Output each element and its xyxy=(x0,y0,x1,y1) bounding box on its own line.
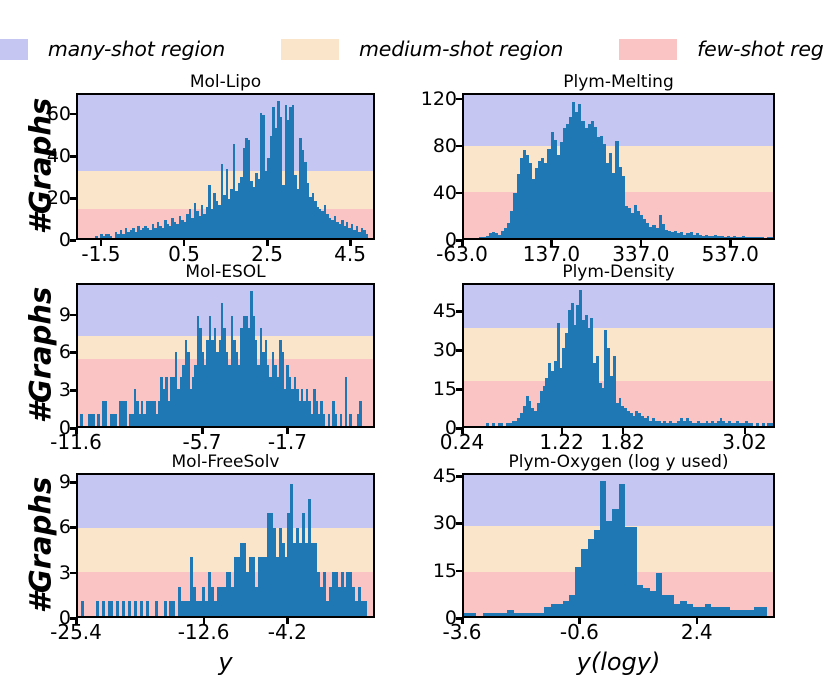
y-axis-label: #Graphs xyxy=(23,92,57,239)
histogram-bar xyxy=(80,414,82,426)
histogram-bar xyxy=(345,377,347,426)
x-tick-mark xyxy=(75,428,78,434)
histogram-bar xyxy=(172,601,175,616)
y-tick-mark xyxy=(456,349,462,352)
histogram-bar xyxy=(761,607,767,616)
x-tick-mark xyxy=(696,618,699,624)
x-tick-mark xyxy=(561,428,564,434)
subplot-plym-melting: Plym-Melting04080120-63.0137.0337.0537.0 xyxy=(462,93,775,240)
subplot-plym-density: Plym-Density01530450.241.221.823.02 xyxy=(462,283,775,428)
histogram-bar xyxy=(128,601,131,616)
x-tick-mark xyxy=(640,240,643,246)
histogram-bar xyxy=(470,613,476,616)
histogram-bar xyxy=(81,601,84,616)
histogram-bars-plym-melting xyxy=(464,95,773,238)
x-tick-mark xyxy=(349,240,352,246)
x-tick-mark xyxy=(744,428,747,434)
legend-label: few-shot region xyxy=(697,37,824,61)
histogram-bar xyxy=(164,601,167,616)
medium-shot-swatch xyxy=(281,39,339,60)
x-tick-mark xyxy=(75,618,78,624)
histogram-bar xyxy=(770,237,773,238)
y-tick-mark xyxy=(456,310,462,313)
y-tick-mark xyxy=(70,572,76,575)
histogram-bar xyxy=(756,423,759,426)
subplot-title-mol-esol: Mol-ESOL xyxy=(76,262,375,282)
histogram-bar xyxy=(328,414,330,426)
histogram-bar xyxy=(110,601,113,616)
histogram-bars-mol-freesolv xyxy=(78,475,373,616)
histogram-bar xyxy=(364,601,367,616)
x-tick-mark xyxy=(286,618,289,624)
y-axis-label: #Graphs xyxy=(23,282,57,427)
y-tick-label: 30 xyxy=(433,512,457,534)
subplot-plym-oxygen: Plym-Oxygen (log y used)0153045-3.6-0.62… xyxy=(462,473,775,618)
x-tick-mark xyxy=(183,240,186,246)
histogram-bar xyxy=(102,601,105,616)
legend: many-shot regionmedium-shot regionfew-sh… xyxy=(0,34,824,64)
histogram-bar xyxy=(146,601,149,616)
histogram-bar xyxy=(323,414,325,426)
histogram-bar xyxy=(105,401,107,426)
histogram-bar xyxy=(96,601,99,616)
x-tick-mark xyxy=(461,240,464,246)
legend-entry-0: many-shot region xyxy=(0,37,225,61)
y-tick-mark xyxy=(456,522,462,525)
plot-area-mol-freesolv xyxy=(76,473,375,618)
x-tick-mark xyxy=(286,428,289,434)
histogram-bars-mol-esol xyxy=(78,285,373,426)
subplot-title-mol-freesolv: Mol-FreeSolv xyxy=(76,452,375,472)
many-shot-swatch xyxy=(0,39,28,60)
plot-area-mol-esol xyxy=(76,283,375,428)
y-axis-label: #Graphs xyxy=(23,472,57,617)
y-tick-label: 45 xyxy=(433,465,457,487)
y-tick-mark xyxy=(456,570,462,573)
y-tick-label: 80 xyxy=(433,135,457,157)
subplot-title-plym-melting: Plym-Melting xyxy=(462,72,775,92)
x-tick-mark xyxy=(203,618,206,624)
histogram-bar xyxy=(122,601,125,616)
histogram-bar xyxy=(335,414,337,426)
y-tick-mark xyxy=(70,389,76,392)
histogram-bar xyxy=(97,414,99,426)
x-tick-mark xyxy=(201,428,204,434)
histogram-bars-mol-lipo xyxy=(78,95,373,238)
histogram-bar xyxy=(751,423,754,426)
legend-entry-1: medium-shot region xyxy=(281,37,563,61)
histogram-bar xyxy=(492,423,495,426)
histogram-bar xyxy=(761,237,764,238)
y-tick-label: 15 xyxy=(433,378,457,400)
y-tick-mark xyxy=(456,145,462,148)
x-tick-mark xyxy=(729,240,732,246)
histogram-bars-plym-oxygen xyxy=(464,475,773,616)
histogram-bars-plym-density xyxy=(464,285,773,426)
x-tick-mark xyxy=(578,618,581,624)
histogram-bar xyxy=(366,234,369,238)
subplot-mol-lipo: Mol-Lipo0204060-1.50.52.54.5#Graphs xyxy=(76,93,375,240)
histogram-bar xyxy=(116,601,119,616)
y-tick-mark xyxy=(70,526,76,529)
histogram-bar xyxy=(124,401,126,426)
subplot-title-plym-oxygen: Plym-Oxygen (log y used) xyxy=(462,452,775,472)
histogram-bar xyxy=(110,236,113,238)
histogram-bar xyxy=(501,423,504,426)
x-axis-label: y(logy) xyxy=(462,648,775,676)
legend-label: medium-shot region xyxy=(359,37,563,61)
y-tick-mark xyxy=(456,388,462,391)
histogram-bar xyxy=(340,414,342,426)
plot-area-mol-lipo xyxy=(76,93,375,240)
y-tick-mark xyxy=(70,113,76,116)
histogram-bar xyxy=(486,423,489,426)
x-tick-mark xyxy=(100,240,103,246)
y-tick-mark xyxy=(456,192,462,195)
x-tick-mark xyxy=(550,240,553,246)
few-shot-swatch xyxy=(619,39,677,60)
y-tick-mark xyxy=(456,98,462,101)
y-tick-label: 30 xyxy=(433,339,457,361)
histogram-bar xyxy=(134,601,137,616)
histogram-bar xyxy=(114,414,116,426)
y-tick-mark xyxy=(70,197,76,200)
y-tick-mark xyxy=(70,481,76,484)
plot-area-plym-melting xyxy=(462,93,775,240)
legend-label: many-shot region xyxy=(48,37,225,61)
y-tick-label: 40 xyxy=(433,182,457,204)
histogram-bar xyxy=(95,236,98,238)
histogram-bar xyxy=(155,601,158,616)
y-tick-mark xyxy=(456,475,462,478)
subplot-mol-freesolv: Mol-FreeSolv0369-25.4-12.6-4.2#Graphsy xyxy=(76,473,375,618)
y-tick-mark xyxy=(70,351,76,354)
x-tick-mark xyxy=(622,428,625,434)
x-tick-mark xyxy=(461,618,464,624)
histogram-bar xyxy=(770,423,773,426)
plot-area-plym-density xyxy=(462,283,775,428)
histogram-bar xyxy=(762,423,765,426)
x-tick-mark xyxy=(266,240,269,246)
y-tick-label: 15 xyxy=(433,560,457,582)
y-tick-mark xyxy=(70,314,76,317)
subplot-title-mol-lipo: Mol-Lipo xyxy=(76,72,375,92)
x-tick-mark xyxy=(461,428,464,434)
y-tick-mark xyxy=(70,155,76,158)
histogram-bar xyxy=(93,414,95,426)
subplot-title-plym-density: Plym-Density xyxy=(462,262,775,282)
x-axis-label: y xyxy=(76,648,375,676)
histogram-figure: many-shot regionmedium-shot regionfew-sh… xyxy=(0,0,824,690)
plot-area-plym-oxygen xyxy=(462,473,775,618)
subplot-mol-esol: Mol-ESOL0369-11.6-5.7-1.7#Graphs xyxy=(76,283,375,428)
y-tick-label: 45 xyxy=(433,300,457,322)
histogram-bar xyxy=(140,601,143,616)
legend-entry-2: few-shot region xyxy=(619,37,824,61)
histogram-bar xyxy=(349,414,351,426)
histogram-bar xyxy=(359,401,361,426)
y-tick-mark xyxy=(70,239,76,242)
y-tick-label: 120 xyxy=(421,88,457,110)
